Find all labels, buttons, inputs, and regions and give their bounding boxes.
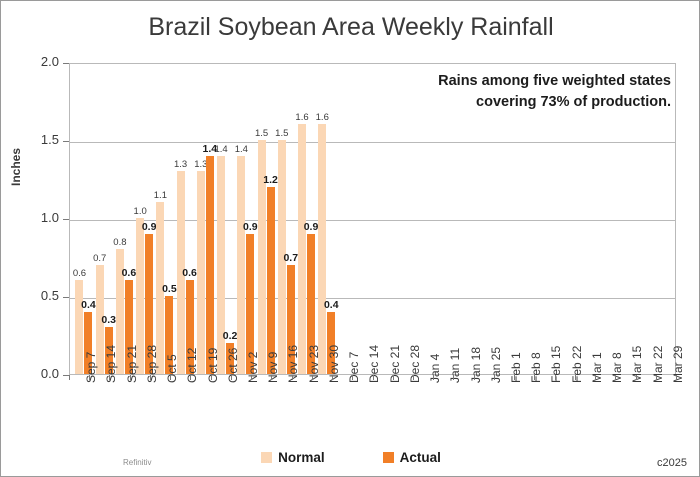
x-tick-label: Sep 28: [145, 345, 159, 383]
bar-group: 1.50.7: [277, 64, 297, 374]
x-tick-label: Nov 23: [307, 345, 321, 383]
x-tick-label: Dec 28: [408, 345, 422, 383]
legend-label: Actual: [400, 450, 441, 465]
x-tick-mark: [514, 375, 515, 380]
x-tick-label: Mar 22: [651, 346, 665, 383]
x-tick-label: Dec 14: [367, 345, 381, 383]
y-axis-title: Inches: [9, 148, 23, 186]
x-tick-mark: [453, 375, 454, 380]
x-tick-label: Jan 25: [489, 347, 503, 383]
y-tick-label: 0.5: [23, 288, 59, 303]
source-watermark: Refinitiv: [123, 458, 151, 467]
legend: NormalActual: [1, 450, 700, 465]
chart-container: Brazil Soybean Area Weekly Rainfall Inch…: [0, 0, 700, 477]
x-tick-label: Feb 8: [529, 352, 543, 383]
x-tick-label: Oct 5: [165, 354, 179, 383]
x-tick-label: Jan 11: [448, 348, 462, 383]
x-tick-mark: [190, 375, 191, 380]
x-tick-mark: [534, 375, 535, 380]
bar-value-label: 0.6: [66, 268, 92, 279]
x-tick-mark: [373, 375, 374, 380]
x-tick-mark: [170, 375, 171, 380]
bar-group: [337, 64, 357, 374]
x-tick-mark: [130, 375, 131, 380]
legend-swatch-icon: [383, 452, 394, 463]
x-tick-mark: [393, 375, 394, 380]
x-tick-label: Sep 14: [104, 345, 118, 383]
x-tick-mark: [615, 375, 616, 380]
x-tick-mark: [474, 375, 475, 380]
bar-normal: [318, 124, 326, 374]
bar-group: 1.00.9: [135, 64, 155, 374]
x-tick-label: Nov 9: [266, 352, 280, 383]
annotation-note: Rains among five weighted statescovering…: [379, 71, 671, 113]
bar-value-label: 1.5: [269, 128, 295, 139]
legend-swatch-icon: [261, 452, 272, 463]
x-tick-mark: [332, 375, 333, 380]
bar-group: 1.60.9: [297, 64, 317, 374]
x-tick-mark: [312, 375, 313, 380]
x-tick-label: Sep 21: [125, 345, 139, 383]
x-tick-mark: [211, 375, 212, 380]
x-tick-mark: [109, 375, 110, 380]
bar-normal: [75, 280, 83, 374]
bar-actual: [206, 156, 214, 374]
x-tick-label: Feb 15: [549, 346, 563, 383]
bar-actual: [267, 187, 275, 374]
bar-group: 1.40.2: [216, 64, 236, 374]
x-tick-mark: [150, 375, 151, 380]
bar-normal: [237, 156, 245, 374]
bar-group: 1.40.9: [236, 64, 256, 374]
x-tick-label: Nov 30: [327, 345, 341, 383]
copyright-label: c2025: [657, 457, 687, 469]
x-tick-mark: [595, 375, 596, 380]
x-tick-mark: [555, 375, 556, 380]
x-tick-label: Mar 15: [630, 346, 644, 383]
x-tick-mark: [656, 375, 657, 380]
y-tick-label: 0.0: [23, 366, 59, 381]
x-tick-mark: [352, 375, 353, 380]
bar-value-label: 1.6: [309, 112, 335, 123]
x-tick-label: Oct 12: [185, 348, 199, 383]
y-tick-label: 1.5: [23, 132, 59, 147]
page-title: Brazil Soybean Area Weekly Rainfall: [1, 13, 700, 42]
bar-group: 1.10.5: [155, 64, 175, 374]
legend-item-actual[interactable]: Actual: [383, 450, 441, 465]
bar-group: [358, 64, 378, 374]
bar-group: 0.70.3: [95, 64, 115, 374]
x-tick-label: Feb 22: [570, 346, 584, 383]
bar-value-label: 1.4: [228, 144, 254, 155]
bar-value-label: 1.0: [127, 206, 153, 217]
x-tick-label: Mar 8: [610, 352, 624, 383]
legend-label: Normal: [278, 450, 325, 465]
x-tick-label: Jan 4: [428, 354, 442, 383]
x-tick-label: Oct 26: [226, 348, 240, 383]
annotation-line: covering 73% of production.: [379, 92, 671, 113]
x-tick-mark: [433, 375, 434, 380]
x-tick-label: Feb 1: [509, 352, 523, 383]
x-tick-label: Nov 16: [286, 345, 300, 383]
x-tick-mark: [251, 375, 252, 380]
x-tick-label: Jan 18: [469, 347, 483, 383]
x-tick-label: Dec 7: [347, 352, 361, 383]
x-tick-mark: [676, 375, 677, 380]
bar-group: 1.51.2: [257, 64, 277, 374]
legend-item-normal[interactable]: Normal: [261, 450, 325, 465]
bar-group: 1.30.6: [176, 64, 196, 374]
annotation-line: Rains among five weighted states: [379, 71, 671, 92]
x-tick-mark: [575, 375, 576, 380]
x-tick-mark: [89, 375, 90, 380]
bar-value-label: 0.8: [107, 237, 133, 248]
bar-group: 1.60.4: [317, 64, 337, 374]
x-tick-label: Oct 19: [206, 348, 220, 383]
bar-group: 1.31.4: [196, 64, 216, 374]
x-tick-mark: [271, 375, 272, 380]
bar-value-label: 1.1: [147, 190, 173, 201]
x-tick-label: Sep 7: [84, 352, 98, 383]
x-tick-mark: [636, 375, 637, 380]
bar-group: 0.80.6: [115, 64, 135, 374]
y-tick-label: 2.0: [23, 54, 59, 69]
x-tick-mark: [292, 375, 293, 380]
x-tick-label: Mar 29: [671, 346, 685, 383]
x-tick-label: Dec 21: [388, 345, 402, 383]
x-tick-mark: [231, 375, 232, 380]
bar-value-label: 0.7: [87, 253, 113, 264]
bar-normal: [298, 124, 306, 374]
x-tick-mark: [413, 375, 414, 380]
x-tick-mark: [494, 375, 495, 380]
bar-group: 0.60.4: [74, 64, 94, 374]
bar-normal: [197, 171, 205, 374]
y-tick-label: 1.0: [23, 210, 59, 225]
x-tick-mark: [69, 375, 70, 380]
x-tick-label: Mar 1: [590, 352, 604, 383]
x-tick-label: Nov 2: [246, 352, 260, 383]
